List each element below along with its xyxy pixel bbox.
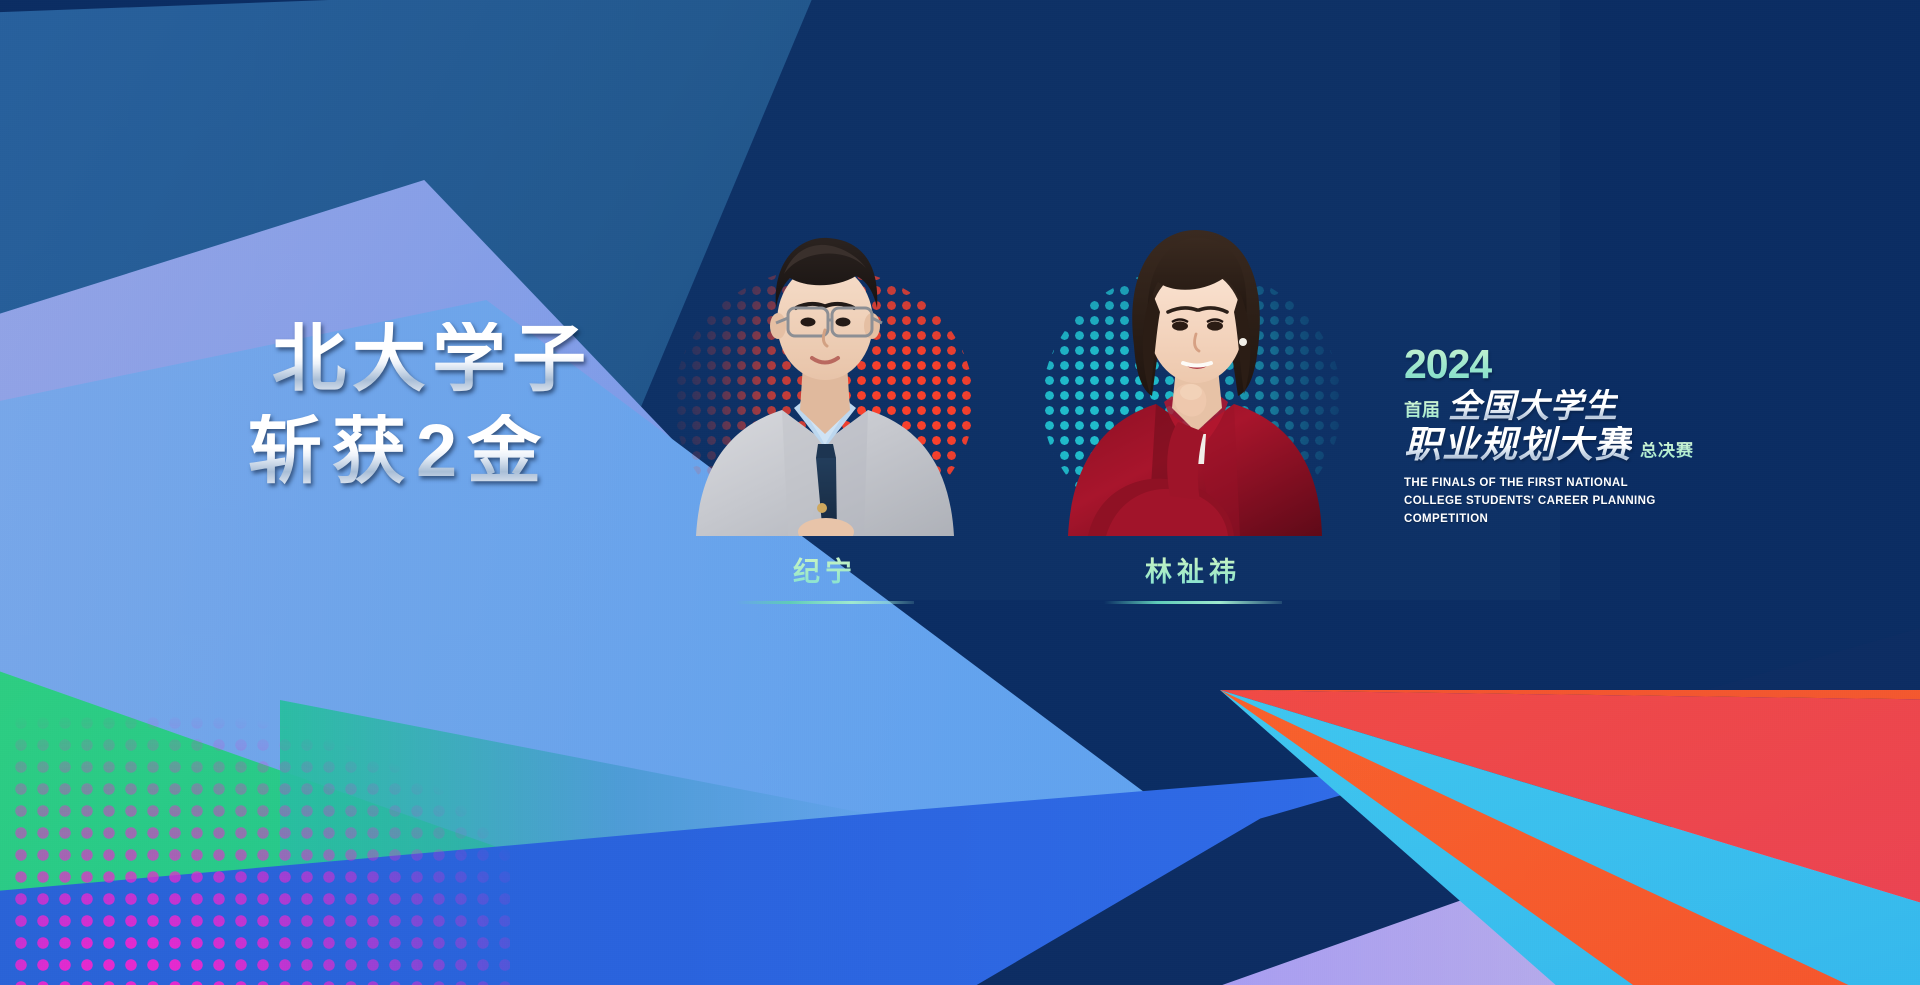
logo-title-line-1: 全国大学生 [1448, 389, 1618, 422]
headline-line-2: 斩获2金 [248, 414, 592, 488]
logo-year: 2024 [1404, 344, 1714, 385]
logo-stage-label: 总决赛 [1640, 442, 1694, 463]
person-name-underline-1 [736, 601, 914, 604]
person-name-1: 纪宁 [660, 550, 990, 589]
poster-canvas: 北大学子 斩获2金 [0, 0, 1920, 985]
logo-english-line-1: THE FINALS OF THE FIRST NATIONAL [1404, 475, 1714, 493]
portrait-media-1 [660, 196, 990, 536]
portrait-photo-male [660, 196, 990, 536]
headline-line-1: 北大学子 [272, 322, 592, 396]
portrait-card-2: 林祉祎 [1028, 196, 1358, 604]
person-name-2: 林祉祎 [1028, 550, 1358, 589]
portrait-card-1: 纪宁 [660, 196, 990, 604]
logo-english-block: THE FINALS OF THE FIRST NATIONAL COLLEGE… [1404, 475, 1714, 528]
event-logo: 2024 首届 全国大学生 职业规划大赛 总决赛 THE FINALS OF T… [1404, 344, 1714, 528]
logo-first-edition: 首届 [1404, 401, 1440, 422]
headline-block: 北大学子 斩获2金 [272, 322, 592, 488]
logo-title-line-2: 职业规划大赛 [1404, 426, 1632, 463]
logo-title-row-1: 首届 全国大学生 [1404, 389, 1714, 422]
logo-title-row-2: 职业规划大赛 总决赛 [1404, 426, 1714, 463]
portrait-photo-female [1028, 196, 1358, 536]
person-name-underline-2 [1104, 601, 1282, 604]
logo-english-line-2: COLLEGE STUDENTS' CAREER PLANNING COMPET… [1404, 493, 1714, 529]
portrait-media-2 [1028, 196, 1358, 536]
